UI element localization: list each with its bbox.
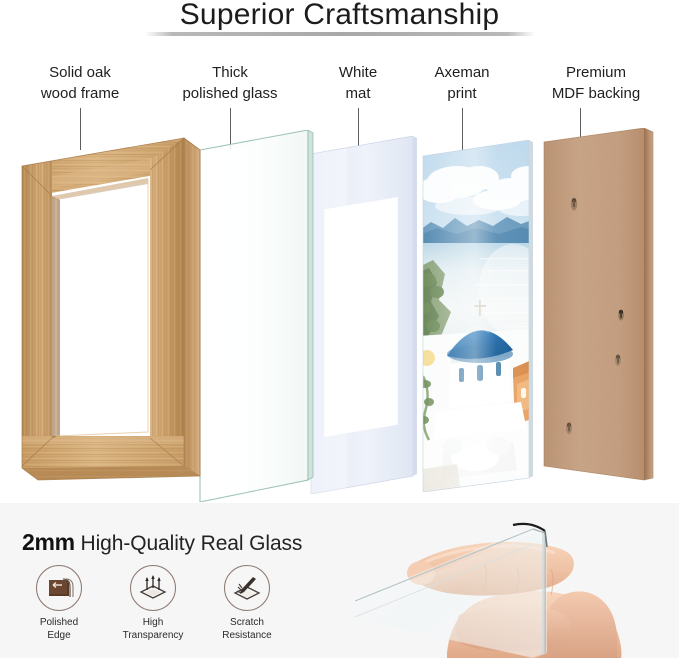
scratch-resistance-icon <box>224 565 270 611</box>
title-underline <box>145 32 535 36</box>
callout-line1: Axeman <box>402 62 522 83</box>
feature-polished-edge: Polished Edge <box>14 565 104 642</box>
feature-label-line2: Resistance <box>202 629 292 642</box>
layer-mdf-backing <box>540 128 665 490</box>
layer-glass <box>196 130 324 502</box>
layer-mat <box>305 136 433 494</box>
hand-holding-glass-photo <box>355 503 679 658</box>
feature-label-line1: Polished <box>14 616 104 629</box>
callout-line2: print <box>402 83 522 104</box>
callout-line2: MDF backing <box>516 83 676 104</box>
exploded-layer-diagram <box>0 118 679 503</box>
callout-line1: White <box>298 62 418 83</box>
glass-headline: 2mm High-Quality Real Glass <box>22 529 302 556</box>
layer-print <box>417 140 545 492</box>
transparency-icon <box>130 565 176 611</box>
header: Superior Craftsmanship <box>0 0 679 46</box>
polished-edge-icon <box>36 565 82 611</box>
callout-line1: Premium <box>516 62 676 83</box>
callout-line1: Solid oak <box>0 62 160 83</box>
page-title: Superior Craftsmanship <box>0 0 679 32</box>
callout-line2: wood frame <box>0 83 160 104</box>
layer-wood-frame <box>8 136 208 496</box>
glass-feature-list: Polished Edge <box>14 565 294 653</box>
callout-line2: mat <box>298 83 418 104</box>
glass-thickness: 2mm <box>22 529 75 555</box>
feature-scratch-resistance: Scratch Resistance <box>202 565 292 642</box>
glass-feature-panel: 2mm High-Quality Real Glass <box>0 503 679 658</box>
callout-line2: polished glass <box>150 83 310 104</box>
feature-label-line2: Edge <box>14 629 104 642</box>
callout-line1: Thick <box>150 62 310 83</box>
glass-headline-text: High-Quality Real Glass <box>81 532 303 555</box>
feature-high-transparency: High Transparency <box>108 565 198 642</box>
feature-label-line1: High <box>108 616 198 629</box>
product-infographic: Superior Craftsmanship Solid oak wood fr… <box>0 0 679 658</box>
feature-label-line2: Transparency <box>108 629 198 642</box>
feature-label-line1: Scratch <box>202 616 292 629</box>
